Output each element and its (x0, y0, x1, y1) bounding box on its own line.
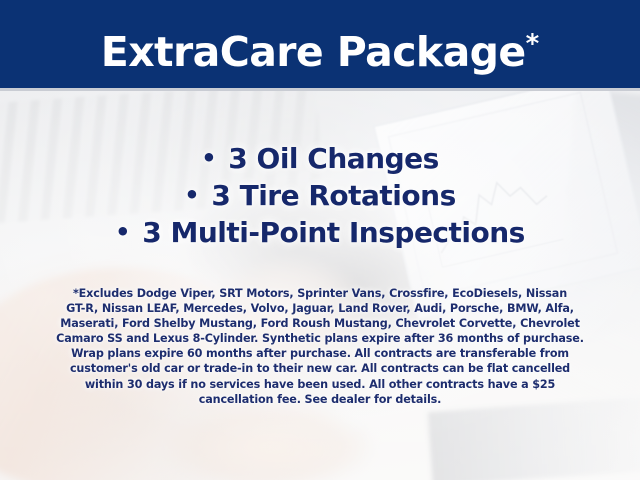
header-band: ExtraCare Package* (0, 0, 640, 88)
disclaimer-line: cancellation fee. See dealer for details… (22, 392, 618, 407)
disclaimer-line: Maserati, Ford Shelby Mustang, Ford Rous… (22, 316, 618, 331)
disclaimer-line: GT-R, Nissan LEAF, Mercedes, Volvo, Jagu… (22, 301, 618, 316)
benefit-item-label: 3 Oil Changes (228, 142, 439, 175)
benefit-item-tire-rotations: • 3 Tire Rotations (0, 177, 640, 214)
benefit-item-multi-point-inspections: • 3 Multi-Point Inspections (0, 214, 640, 251)
benefit-item-label: 3 Tire Rotations (211, 179, 455, 212)
extracare-package-promo-card: ExtraCare Package* • 3 Oil Changes • 3 T… (0, 0, 640, 480)
benefit-item-label: 3 Multi-Point Inspections (142, 216, 525, 249)
benefits-list: • 3 Oil Changes • 3 Tire Rotations • 3 M… (0, 140, 640, 251)
page-title: ExtraCare Package* (0, 19, 640, 77)
disclaimer-line: Wrap plans expire 60 months after purcha… (22, 346, 618, 361)
page-title-asterisk: * (526, 29, 540, 59)
disclaimer-line: customer's old car or trade-in to their … (22, 361, 618, 376)
bullet-icon: • (201, 144, 219, 172)
benefit-item-oil-changes: • 3 Oil Changes (0, 140, 640, 177)
disclaimer-fine-print: *Excludes Dodge Viper, SRT Motors, Sprin… (22, 286, 618, 407)
bullet-icon: • (184, 181, 202, 209)
page-title-text: ExtraCare Package (101, 28, 526, 76)
disclaimer-line: Camaro SS and Lexus 8-Cylinder. Syntheti… (22, 331, 618, 346)
bullet-icon: • (115, 218, 133, 246)
disclaimer-line: within 30 days if no services have been … (22, 377, 618, 392)
disclaimer-line: *Excludes Dodge Viper, SRT Motors, Sprin… (22, 286, 618, 301)
